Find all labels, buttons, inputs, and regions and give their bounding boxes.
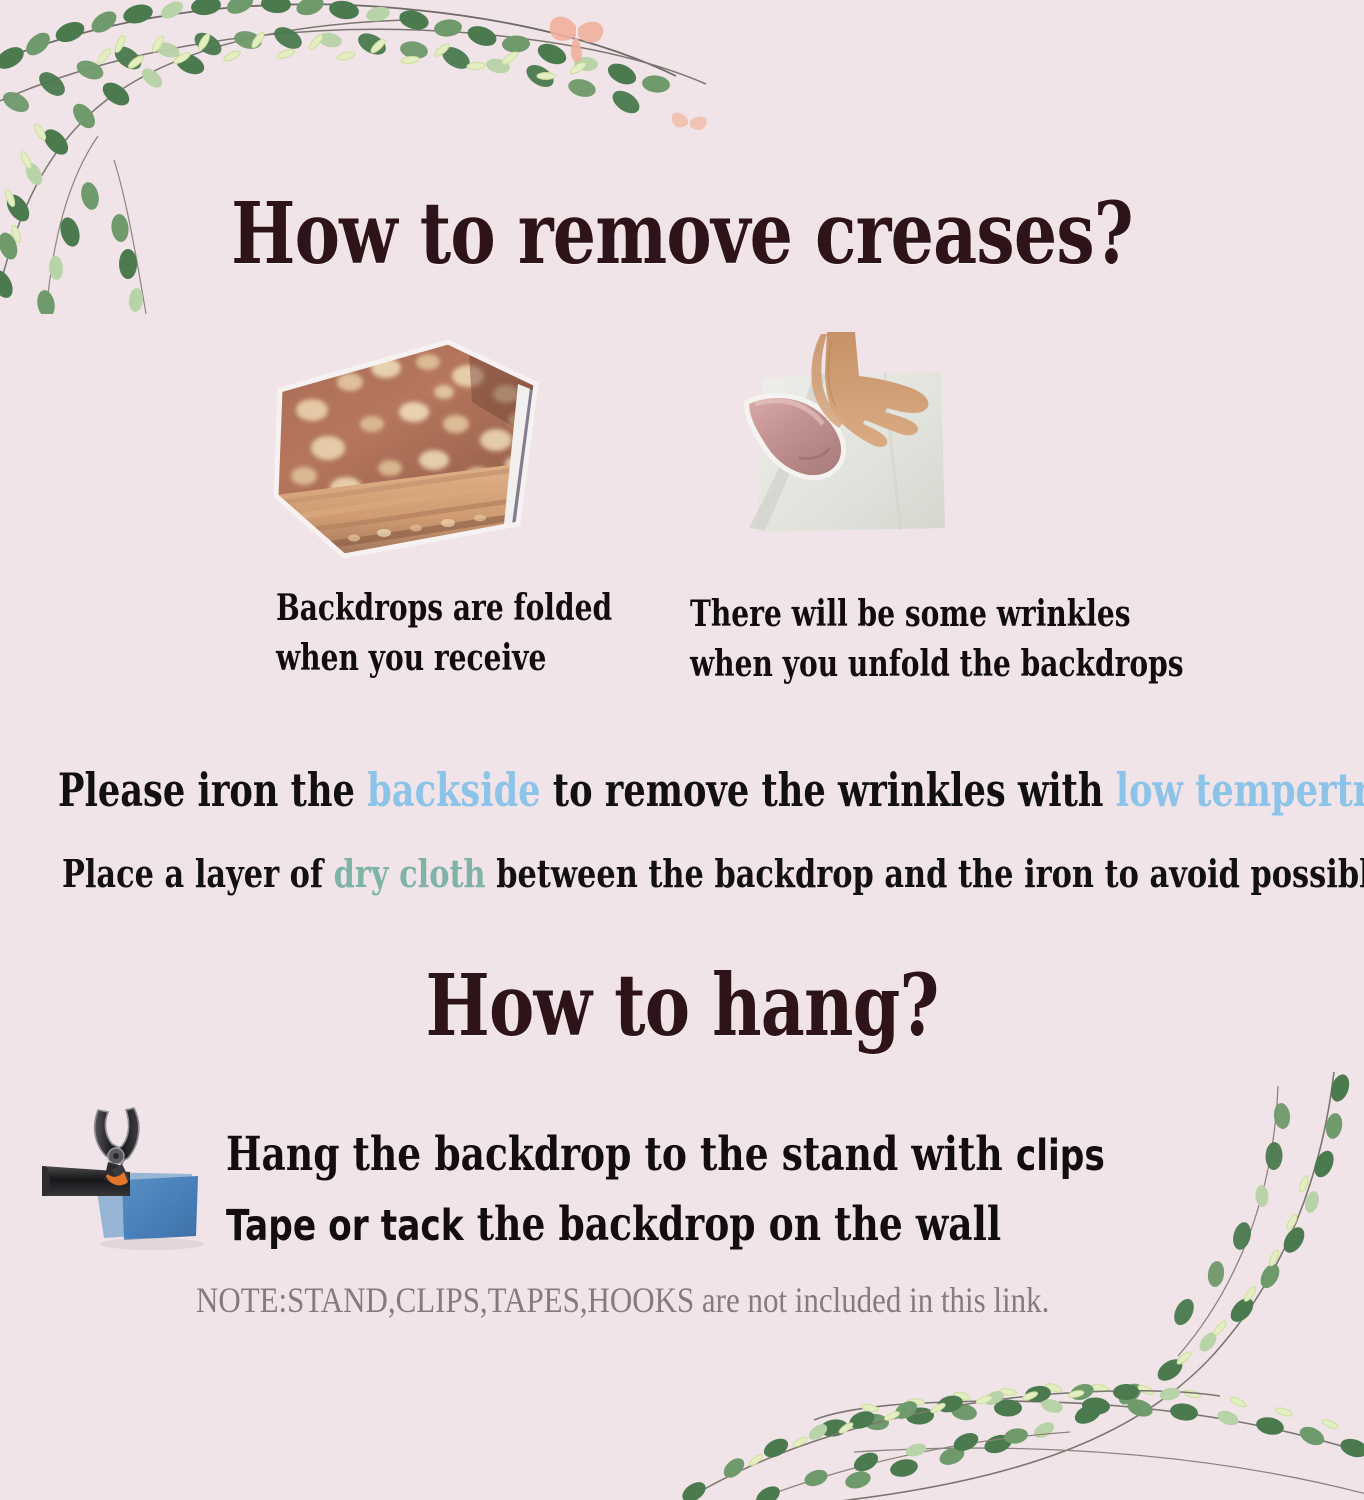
hang-line2-emphasis-tape-tack: Tape or tack	[226, 1201, 464, 1251]
cloth-highlight-dry-cloth: dry cloth	[334, 851, 486, 896]
instruction-dry-cloth: Place a layer of dry cloth between the b…	[62, 850, 1364, 898]
page-title-how-to-hang: How to hang?	[136, 958, 1227, 1054]
instruction-iron-backside: Please iron the backside to remove the w…	[58, 762, 1364, 818]
spring-clamp-photo	[42, 1104, 242, 1259]
leafy-vine-icon	[660, 1300, 1220, 1500]
iron-highlight-backside: backside	[367, 763, 540, 817]
disclaimer-note: NOTE:STAND,CLIPS,TAPES,HOOKS are not inc…	[196, 1278, 1049, 1322]
iron-text-part2: to remove the wrinkles with	[541, 763, 1116, 817]
cloth-text-part2: between the backdrop and the iron to avo…	[486, 851, 1364, 896]
caption-folded: Backdrops are folded when you receive	[276, 583, 612, 683]
note-bold-part: NOTE:STAND,CLIPS,TAPES,HOOKS	[196, 1280, 694, 1320]
cloth-text-part1: Place a layer of	[62, 851, 334, 896]
hang-line2-text: the backdrop on the wall	[464, 1197, 1002, 1252]
hand-ironing-photo	[735, 332, 975, 560]
caption-folded-line2: when you receive	[276, 633, 612, 683]
caption-wrinkles: There will be some wrinkles when you unf…	[690, 589, 1184, 689]
hang-line1-emphasis-clips: clips	[1016, 1131, 1105, 1181]
hang-instruction-tape-tack: Tape or tack the backdrop on the wall	[226, 1196, 1001, 1255]
iron-text-part1: Please iron the	[58, 763, 367, 817]
folded-backdrop-photo	[268, 328, 548, 563]
note-rest: are not included in this link.	[694, 1280, 1049, 1320]
caption-wrinkles-line1: There will be some wrinkles	[690, 589, 1184, 639]
caption-folded-line1: Backdrops are folded	[276, 583, 612, 633]
pink-butterfly-icon	[520, 0, 720, 170]
hang-instruction-clips: Hang the backdrop to the stand with clip…	[226, 1126, 1105, 1185]
iron-highlight-temperature: low tempertrue	[1116, 763, 1364, 817]
infographic-page: How to remove creases?	[0, 0, 1364, 1500]
caption-wrinkles-line2: when you unfold the backdrops	[690, 639, 1184, 689]
hang-line1-text: Hang the backdrop to the stand with	[226, 1127, 1016, 1182]
page-title-remove-creases: How to remove creases?	[136, 186, 1227, 282]
